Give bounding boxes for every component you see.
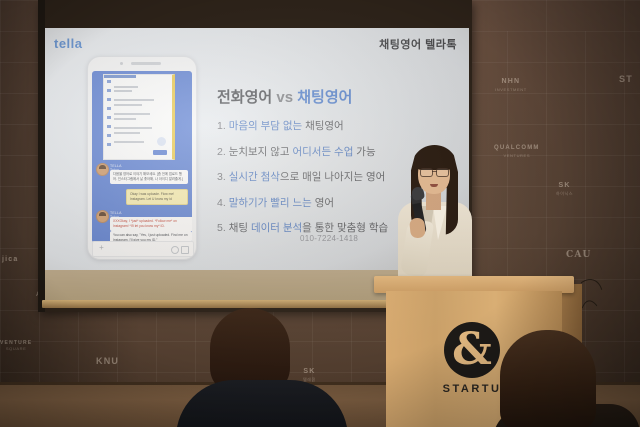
bullet-highlight: 데이터 분석 (251, 222, 302, 234)
bullet-post: 가능 (353, 146, 375, 158)
wall-sponsor-qualcomm: QUALCOMM VENTURES (494, 145, 540, 158)
chat-thread: TELLA Tutor 다음을 영어로 이야기 해보세요. [좀 전에 업로드 … (92, 71, 192, 243)
phone-status-bar (88, 57, 196, 70)
doc-avatar-circle (157, 137, 166, 146)
emoji-icon[interactable] (171, 246, 179, 254)
slide-header-title: 채팅영어 텔라톡 (379, 36, 457, 52)
tella-logo: tella (54, 36, 83, 51)
chat-bubble-correction: XXXOkay, I *just* uploaded. *Follow me* … (110, 217, 192, 231)
speaker-hair-top (416, 148, 453, 170)
audience-member-left (176, 308, 348, 427)
doc-rail (107, 80, 111, 83)
wall-sponsor-st: ST (619, 74, 633, 85)
bullet-pre: 채팅 (229, 222, 251, 234)
bullet-number: 1. (217, 120, 226, 132)
bullet-item-1: 1. 마음의 부담 없는 채팅영어 (217, 118, 467, 133)
slide-contact-phone: 010-7224-1418 (300, 234, 358, 243)
doc-line (114, 99, 154, 101)
doc-line (114, 127, 152, 129)
doc-rail (107, 107, 111, 110)
doc-rail (107, 98, 111, 101)
phone-camera-icon (120, 62, 123, 65)
phone-mockup: TELLA Tutor 다음을 영어로 이야기 해보세요. [좀 전에 업로드 … (87, 56, 197, 260)
slide-title-left: 전화영어 (217, 89, 272, 106)
chat-input-bar[interactable]: + (92, 241, 194, 257)
wall-sponsor-sk-hynix: SK 하이닉스 (556, 182, 573, 196)
tutor-avatar (96, 163, 109, 176)
phone-speaker-grill (131, 62, 161, 65)
bullet-post: 채팅영어 (302, 120, 344, 132)
bullet-highlight: 말하기가 빨리 느는 (229, 197, 312, 209)
presentation-scene: jica A VENTURE SQUARE KNU NHN INVESTMENT… (0, 0, 640, 427)
doc-rail (107, 116, 111, 119)
send-icon[interactable] (181, 246, 189, 254)
doc-line (114, 104, 142, 106)
glasses-bridge (432, 171, 437, 172)
slide-title: 전화영어 vs 채팅영어 (217, 86, 352, 107)
doc-line (114, 90, 132, 92)
bullet-highlight: 어디서든 수업 (292, 146, 353, 158)
glasses-lens-right (436, 168, 449, 177)
bullet-number: 2. (217, 146, 226, 158)
speaker-hand (409, 217, 426, 238)
attach-plus-icon[interactable]: + (98, 245, 105, 252)
doc-rail (107, 125, 111, 128)
doc-rail (107, 89, 111, 92)
doc-rail (107, 143, 111, 146)
wall-sponsor-jica: jica (2, 256, 18, 265)
projection-screen-left-edge (38, 0, 45, 312)
slide-title-vs: vs (276, 89, 293, 106)
doc-line (114, 132, 140, 134)
audience-member-right (492, 330, 640, 427)
doc-line (114, 141, 144, 143)
chat-bubble-tutor: 다음을 영어로 이야기 해보세요. [좀 전에 업로드 했어. 인스타그램에서 … (110, 170, 188, 184)
audience-head (500, 330, 596, 427)
bullet-post: 영어 (312, 197, 334, 209)
doc-action-chip (153, 150, 167, 155)
bullet-highlight: 마음의 부담 없는 (229, 120, 302, 132)
slide-title-right: 채팅영어 (297, 89, 352, 106)
wall-sponsor-knu: KNU (96, 356, 119, 367)
speaker-neck (426, 192, 441, 210)
bullet-number: 3. (217, 171, 226, 183)
wall-sponsor-nhn: NHN INVESTMENT (495, 78, 527, 92)
doc-title-line (104, 75, 136, 78)
doc-rail (107, 134, 111, 137)
speaker-glasses (420, 168, 449, 176)
chat-bubble-user: Okay I was uploade. Flow me! Instagram. … (126, 189, 188, 205)
doc-line (114, 86, 138, 88)
lesson-document-card (103, 74, 175, 160)
bullet-post: 으로 매일 나아지는 영어 (280, 171, 385, 183)
doc-line (114, 118, 136, 120)
wall-sponsor-cau: CAU (566, 250, 592, 261)
tutor-avatar (96, 210, 109, 223)
bullet-number: 5. (217, 222, 226, 234)
glasses-lens-left (420, 168, 433, 177)
wall-sponsor-venture-square: VENTURE SQUARE (0, 340, 32, 351)
doc-line (114, 113, 150, 115)
bullet-pre: 눈치보지 않고 (229, 146, 293, 158)
bullet-post: 을 통한 맞춤형 학습 (302, 222, 388, 234)
speaker-lapel-right (433, 206, 447, 240)
bullet-highlight: 실시간 첨삭 (229, 171, 280, 183)
audience-shoulders (176, 380, 348, 427)
bullet-number: 4. (217, 197, 226, 209)
